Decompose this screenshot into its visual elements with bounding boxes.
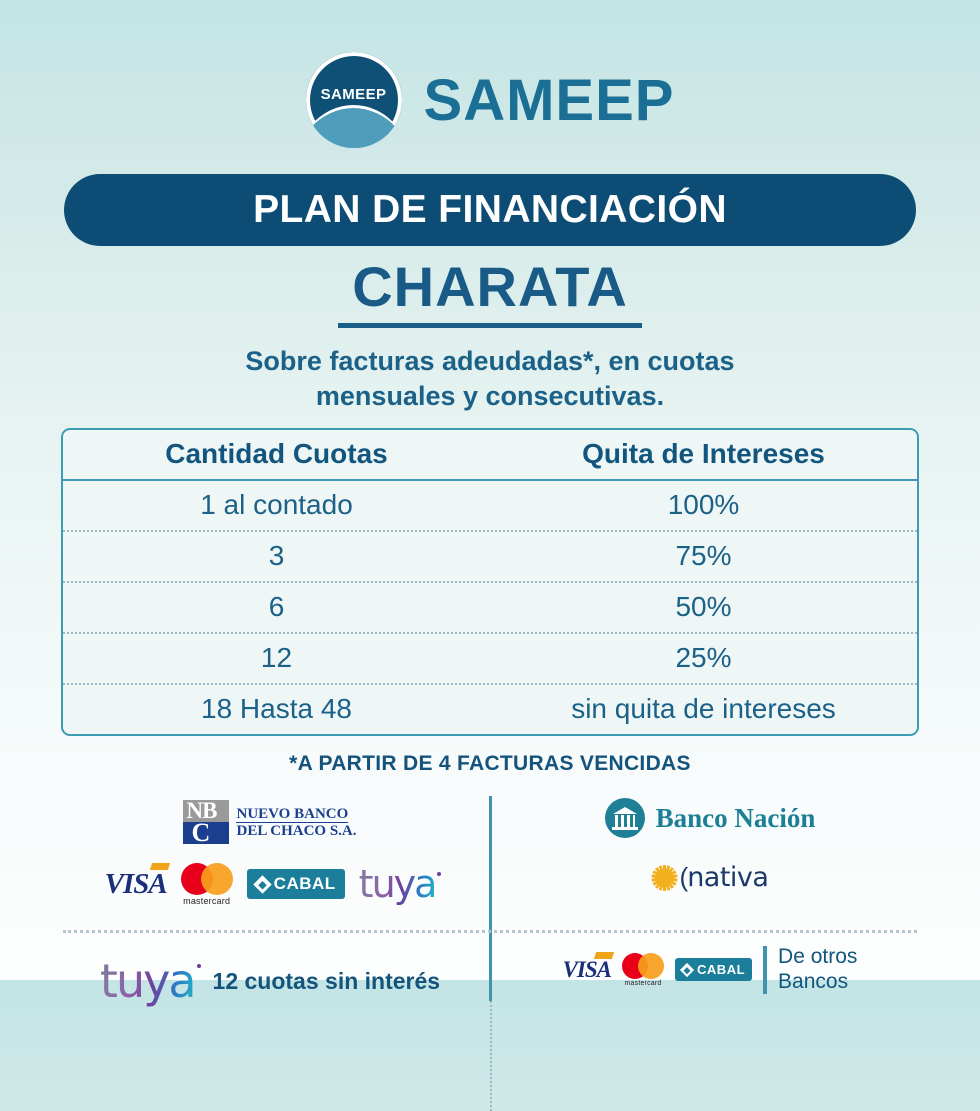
nuevo-banco-chaco-logo: NB C NUEVO BANCO DEL CHACO S.A. bbox=[183, 800, 356, 844]
cabal-label: CABAL bbox=[274, 874, 336, 894]
banco-nacion-name: Banco Nación bbox=[656, 803, 816, 834]
subtitle-line-1: Sobre facturas adeudadas*, en cuotas bbox=[0, 344, 980, 379]
note-separator-bar bbox=[763, 946, 767, 994]
table-row: 12 25% bbox=[63, 634, 917, 685]
subtitle: Sobre facturas adeudadas*, en cuotas men… bbox=[0, 344, 980, 414]
city-heading: CHARATA bbox=[0, 254, 980, 328]
footnote: *A PARTIR DE 4 FACTURAS VENCIDAS bbox=[0, 752, 980, 776]
visa-icon: VISA bbox=[563, 957, 611, 983]
bank-building-icon bbox=[605, 798, 645, 838]
bank-base-shape bbox=[612, 827, 638, 830]
column-header-quita: Quita de Intereses bbox=[490, 430, 917, 479]
bank-name-line-1: NUEVO BANCO bbox=[236, 806, 348, 823]
otros-bancos-row: VISA mastercard CABAL De otros bbox=[495, 945, 925, 995]
cell-quita: 50% bbox=[490, 583, 917, 632]
sameep-logo-icon: SAMEEP bbox=[306, 52, 402, 148]
otros-bancos-text: De otros Bancos bbox=[778, 945, 857, 995]
city-name: CHARATA bbox=[338, 254, 642, 328]
nativa-icon: ( nativa bbox=[652, 862, 769, 893]
financing-table: Cantidad Cuotas Quita de Intereses 1 al … bbox=[61, 428, 919, 736]
table-row: 6 50% bbox=[63, 583, 917, 634]
cell-quita: 75% bbox=[490, 532, 917, 581]
table-header-row: Cantidad Cuotas Quita de Intereses bbox=[63, 430, 917, 481]
mastercard-icon: mastercard bbox=[181, 863, 233, 906]
bank-name-line-2: DEL CHACO S.A. bbox=[236, 823, 356, 839]
brand-header: SAMEEP SAMEEP bbox=[0, 0, 980, 148]
table-row: 3 75% bbox=[63, 532, 917, 583]
cell-quita: 25% bbox=[490, 634, 917, 683]
tuya-icon: tuya bbox=[359, 862, 436, 906]
cabal-icon: CABAL bbox=[675, 958, 752, 981]
cell-cuotas: 3 bbox=[63, 532, 490, 581]
logo-wave-line bbox=[306, 105, 402, 148]
bank-columns-shape bbox=[615, 815, 635, 827]
left-cards-row: VISA mastercard CABAL tuya bbox=[55, 862, 485, 906]
table-row: 1 al contado 100% bbox=[63, 481, 917, 532]
cabal-diamond-icon bbox=[680, 963, 694, 977]
bank-roof-shape bbox=[613, 807, 637, 814]
mastercard-label: mastercard bbox=[183, 896, 230, 906]
cell-quita: sin quita de intereses bbox=[490, 685, 917, 734]
sunburst-icon bbox=[652, 865, 678, 891]
payments-vertical-divider bbox=[489, 796, 492, 1001]
note-line-1: De otros bbox=[778, 945, 857, 970]
cabal-icon: CABAL bbox=[247, 869, 345, 899]
logo-mark-text: SAMEEP bbox=[321, 86, 387, 103]
banco-nacion-row: Banco Nación bbox=[495, 798, 925, 838]
nativa-label: nativa bbox=[687, 862, 768, 893]
cell-cuotas: 6 bbox=[63, 583, 490, 632]
mastercard-icon: mastercard bbox=[622, 953, 664, 987]
payments-right-column: Banco Nación ( nativa VISA mastercard bbox=[495, 790, 925, 995]
otros-bancos-note: De otros Bancos bbox=[763, 945, 857, 995]
mastercard-circles bbox=[181, 863, 233, 895]
payments-left-column: NB C NUEVO BANCO DEL CHACO S.A. VISA bbox=[55, 790, 485, 1008]
column-header-cuotas: Cantidad Cuotas bbox=[63, 430, 490, 479]
note-line-2: Bancos bbox=[778, 970, 857, 995]
cell-cuotas: 18 Hasta 48 bbox=[63, 685, 490, 734]
nuevo-banco-chaco-row: NB C NUEVO BANCO DEL CHACO S.A. bbox=[55, 800, 485, 844]
nativa-row: ( nativa bbox=[495, 862, 925, 893]
cell-cuotas: 1 al contado bbox=[63, 481, 490, 530]
payments-section: NB C NUEVO BANCO DEL CHACO S.A. VISA bbox=[55, 790, 925, 1005]
plan-banner: PLAN DE FINANCIACIÓN bbox=[64, 174, 916, 246]
table-wrapper: Cantidad Cuotas Quita de Intereses 1 al … bbox=[0, 428, 980, 736]
nbc-monogram-icon: NB C bbox=[183, 800, 229, 844]
tuya-promo-row: tuya 12 cuotas sin interés bbox=[55, 954, 485, 1008]
mastercard-label: mastercard bbox=[625, 980, 662, 987]
cabal-label: CABAL bbox=[697, 962, 745, 977]
brand-wordmark: SAMEEP bbox=[424, 67, 675, 134]
visa-icon: VISA bbox=[105, 868, 167, 901]
banco-nacion-logo: Banco Nación bbox=[605, 798, 816, 838]
plan-banner-title: PLAN DE FINANCIACIÓN bbox=[253, 188, 727, 232]
nuevo-banco-chaco-name: NUEVO BANCO DEL CHACO S.A. bbox=[236, 806, 356, 839]
table-row: 18 Hasta 48 sin quita de intereses bbox=[63, 685, 917, 734]
subtitle-line-2: mensuales y consecutivas. bbox=[0, 379, 980, 414]
nbc-letter-c: C bbox=[191, 818, 229, 844]
cabal-diamond-icon bbox=[253, 875, 271, 893]
mastercard-orange-circle bbox=[201, 863, 233, 895]
cell-cuotas: 12 bbox=[63, 634, 490, 683]
tuya-promo-icon: tuya bbox=[100, 954, 195, 1008]
tuya-promo-text: 12 cuotas sin interés bbox=[213, 968, 441, 995]
cell-quita: 100% bbox=[490, 481, 917, 530]
flyer-page: SAMEEP SAMEEP PLAN DE FINANCIACIÓN CHARA… bbox=[0, 0, 980, 980]
mastercard-circles bbox=[622, 953, 664, 979]
mastercard-orange-circle bbox=[638, 953, 664, 979]
